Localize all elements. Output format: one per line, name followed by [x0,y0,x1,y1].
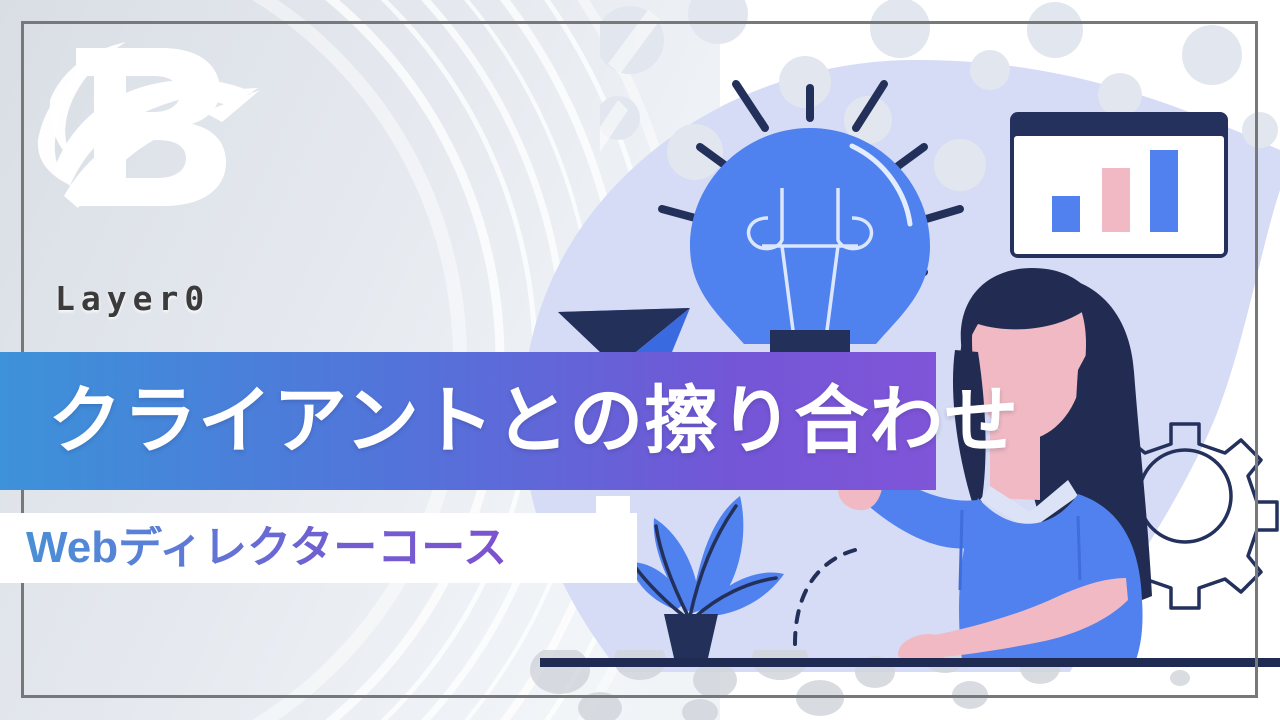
bar-1 [1052,196,1080,232]
bar-3 [1150,150,1178,232]
page-title: クライアントとの擦り合わせ [48,384,1019,458]
thumbnail-canvas: Layer0 クライアントとの擦り合わせ Webディレクターコース [0,0,1280,720]
course-subtitle: Webディレクターコース [26,526,507,570]
b-swoosh-logo [34,36,264,216]
desk-line [540,658,1280,667]
bar-chart-card[interactable] [1008,110,1230,260]
bar-2 [1102,168,1130,232]
title-band: クライアントとの擦り合わせ [0,352,936,490]
eyebrow-label: Layer0 [55,279,210,318]
subtitle-band: Webディレクターコース [0,513,637,583]
